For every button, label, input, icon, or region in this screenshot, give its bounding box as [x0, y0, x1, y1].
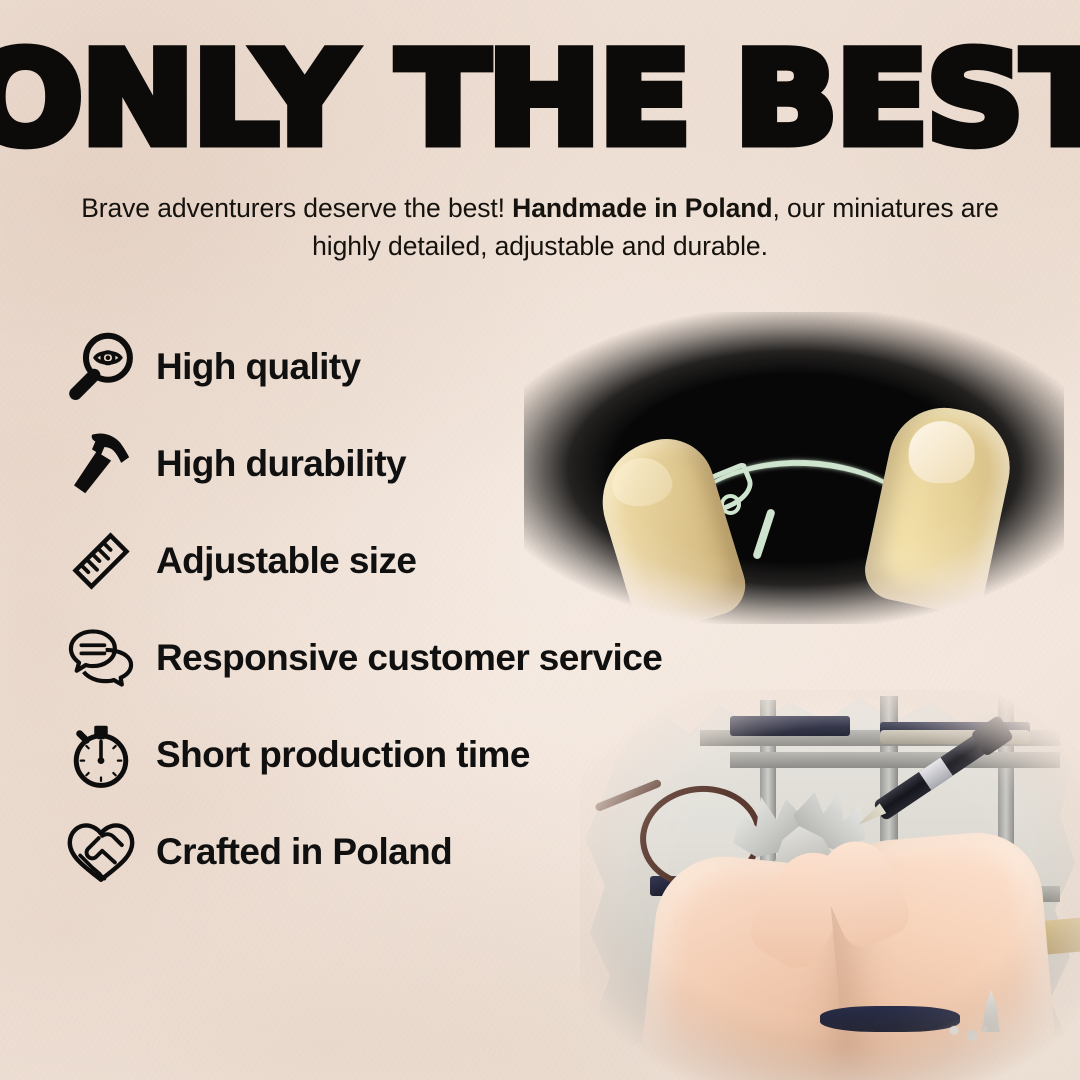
right-fingernail — [909, 421, 975, 483]
stopwatch-icon — [62, 716, 140, 794]
ruler-icon — [62, 522, 140, 600]
subtitle-text-bold: Handmade in Poland — [512, 193, 772, 223]
chat-bubbles-icon — [62, 619, 140, 697]
feature-label: High quality — [156, 346, 361, 388]
hammer-icon — [62, 425, 140, 503]
feature-label: High durability — [156, 443, 406, 485]
left-fingernail — [609, 455, 674, 510]
magnifier-eye-icon — [62, 328, 140, 406]
feature-label: Crafted in Poland — [156, 831, 452, 873]
feature-label: Short production time — [156, 734, 530, 776]
miniature-closeup-photo — [524, 312, 1064, 624]
feature-label: Responsive customer service — [156, 637, 662, 679]
page-subtitle: Brave adventurers deserve the best! Hand… — [60, 190, 1020, 265]
feature-label: Adjustable size — [156, 540, 416, 582]
subtitle-text-lead: Brave adventurers deserve the best! — [81, 193, 512, 223]
heart-handshake-icon — [62, 813, 140, 891]
workshop-hands-photo — [580, 690, 1080, 1080]
photo-vignette — [580, 690, 1080, 1080]
page-title: ONLY THE BEST — [0, 36, 1080, 164]
poster-canvas: ONLY THE BEST Brave adventurers deserve … — [0, 0, 1080, 1080]
